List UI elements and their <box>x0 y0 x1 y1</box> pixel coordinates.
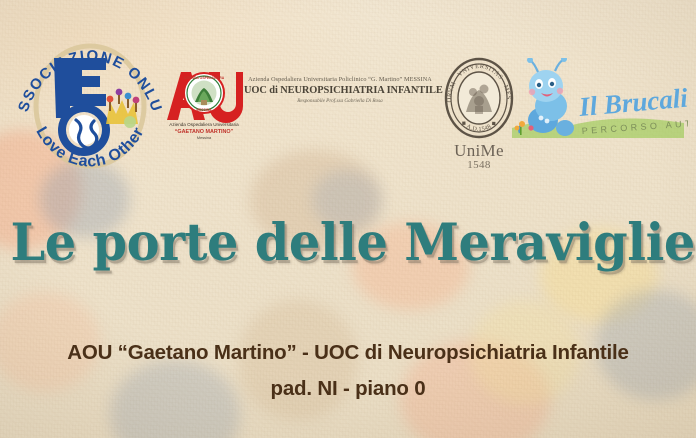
unime-year: 1548 <box>430 159 528 171</box>
poster-subtitle-line1: AOU “Gaetano Martino” - UOC di Neuropsic… <box>0 341 696 365</box>
svg-text:MESSINA: MESSINA <box>196 108 212 112</box>
unime-label: UniMe <box>430 142 528 159</box>
logo-aou: AZIENDA OSPEDALIERA MESSINA Azienda Ospe… <box>165 62 243 140</box>
uoc-line-1: Azienda Ospedaliera Universitaria Policl… <box>244 76 436 83</box>
aou-line3: Messina <box>197 136 212 140</box>
uoc-line-2: UOC di NEUROPSICHIATRIA INFANTILE <box>244 85 436 96</box>
poster-title: Le porte delle Meraviglie <box>10 218 685 269</box>
poster-subtitle-line2: pad. NI - piano 0 <box>0 377 696 401</box>
poster-canvas: ASSOCIAZIONE ONLUS Love Each Other <box>0 0 696 438</box>
aou-line2: “GAETANO MARTINO” <box>175 129 234 135</box>
logo-brucaliffo: Il Brucaliffo PERCORSO AUTISMO <box>508 58 688 142</box>
brucaliffo-wordmark: Il Brucaliffo <box>577 80 688 122</box>
aou-line1: Azienda Ospedaliera Universitaria <box>169 122 239 127</box>
logo-row: ASSOCIAZIONE ONLUS Love Each Other <box>0 0 696 200</box>
svg-text:AZIENDA OSPEDALIERA: AZIENDA OSPEDALIERA <box>184 76 225 80</box>
uoc-line-3: Responsabile Prof.ssa Gabriella Di Rosa <box>244 98 436 104</box>
logo-leo: ASSOCIAZIONE ONLUS Love Each Other <box>10 14 170 186</box>
unime-seal: STVDIORVM · VNIVERSITAS · MESSANAE ◆ A.D… <box>442 56 516 140</box>
uoc-department-text: Azienda Ospedaliera Universitaria Policl… <box>244 76 436 104</box>
